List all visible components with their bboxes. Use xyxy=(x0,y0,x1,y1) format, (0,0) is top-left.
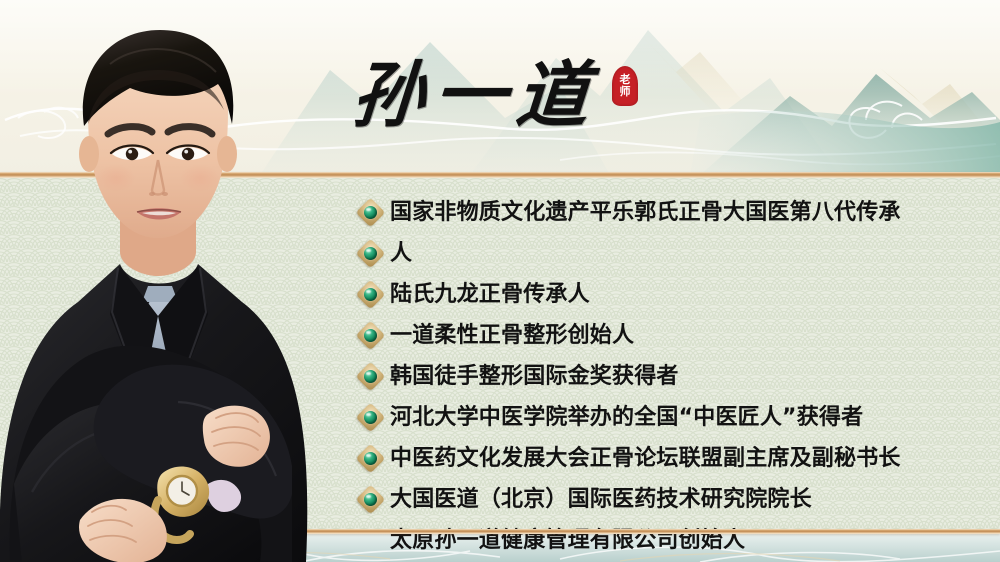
credential-item: 人 xyxy=(358,233,958,274)
credential-item: 河北大学中医学院举办的全国“中医匠人”获得者 xyxy=(358,397,958,438)
slide-root: 孙一道 老 师 国家非物质文化遗产平乐郭氏正骨大国医第八代传承人陆氏九龙正骨传承… xyxy=(0,0,1000,562)
credential-text: 韩国徒手整形国际金奖获得者 xyxy=(390,366,679,388)
gold-divider-bottom xyxy=(0,529,1000,534)
red-seal-stamp: 老 师 xyxy=(612,66,638,106)
credentials-list: 国家非物质文化遗产平乐郭氏正骨大国医第八代传承人陆氏九龙正骨传承人一道柔性正骨整… xyxy=(358,192,958,561)
jade-gem-bullet-icon xyxy=(358,200,383,225)
credential-text: 人 xyxy=(390,243,412,265)
credential-item: 中医药文化发展大会正骨论坛联盟副主席及副秘书长 xyxy=(358,438,958,479)
jade-gem-bullet-icon xyxy=(358,282,383,307)
credential-text: 河北大学中医学院举办的全国“中医匠人”获得者 xyxy=(390,407,863,429)
credential-item: 韩国徒手整形国际金奖获得者 xyxy=(358,356,958,397)
jade-gem-bullet-icon xyxy=(358,323,383,348)
jade-gem-bullet-icon xyxy=(358,364,383,389)
seal-char-top: 老 xyxy=(620,75,631,86)
title-block: 孙一道 老 师 xyxy=(352,60,638,132)
seal-char-bottom: 师 xyxy=(620,87,631,98)
credential-text: 大国医道（北京）国际医药技术研究院院长 xyxy=(390,489,812,511)
jade-gem-bullet-icon xyxy=(358,487,383,512)
credential-text: 国家非物质文化遗产平乐郭氏正骨大国医第八代传承 xyxy=(390,202,901,224)
jade-gem-bullet-icon xyxy=(358,241,383,266)
credential-text: 陆氏九龙正骨传承人 xyxy=(390,284,590,306)
calligraphy-name: 孙一道 xyxy=(349,60,600,132)
credential-text: 一道柔性正骨整形创始人 xyxy=(390,325,634,347)
credential-item: 大国医道（北京）国际医药技术研究院院长 xyxy=(358,479,958,520)
credential-item: 太原孙一道健康管理有限公司创始人 xyxy=(358,520,958,561)
credential-item: 一道柔性正骨整形创始人 xyxy=(358,315,958,356)
jade-gem-bullet-icon xyxy=(358,446,383,471)
credential-item: 陆氏九龙正骨传承人 xyxy=(358,274,958,315)
credential-item: 国家非物质文化遗产平乐郭氏正骨大国医第八代传承 xyxy=(358,192,958,233)
jade-gem-bullet-icon xyxy=(358,405,383,430)
credential-text: 中医药文化发展大会正骨论坛联盟副主席及副秘书长 xyxy=(390,448,901,470)
